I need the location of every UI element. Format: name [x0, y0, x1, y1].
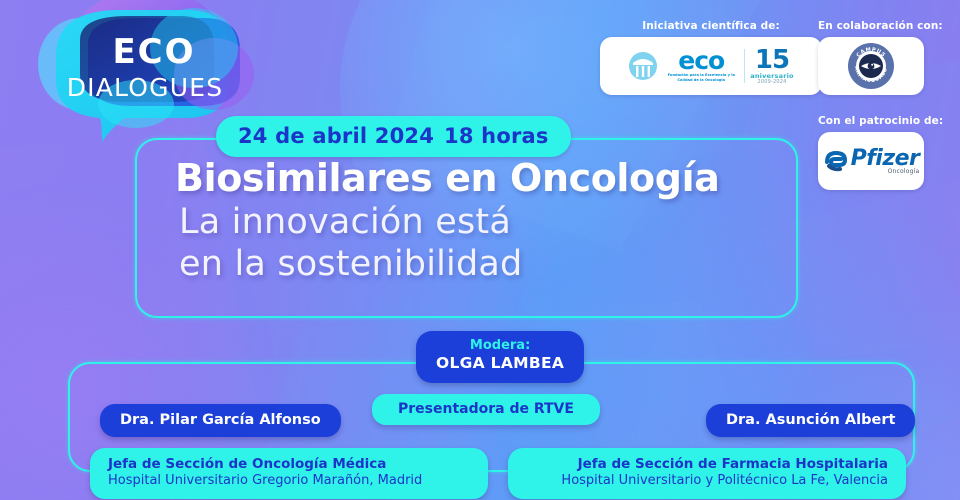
eco-tagline: Fundación para la Excelencia y la Calida… — [663, 73, 739, 82]
speaker-org-right: Hospital Universitario y Politécnico La … — [526, 473, 888, 490]
sponsor-scientific-label: Iniciativa científica de: — [600, 20, 822, 32]
speaker-role-right: Jefa de Sección de Farmacia Hospitalaria — [526, 456, 888, 473]
svg-text:CAMPUS: CAMPUS — [856, 47, 887, 59]
campus-farmacosalud-icon: CAMPUS FARMACOSALUD — [848, 43, 894, 89]
anniversary-years: 2009-2024 — [757, 80, 786, 85]
sponsor-collaboration-card: CAMPUS FARMACOSALUD — [818, 37, 924, 95]
anniversary-number: 15 — [755, 47, 789, 73]
eco-wordmark: eco — [663, 50, 739, 71]
sponsor-collaboration-label: En colaboración con: — [818, 20, 943, 32]
sponsor-scientific-card: eco Fundación para la Excelencia y la Ca… — [600, 37, 822, 95]
event-title-line3: en la sostenibilidad — [175, 243, 815, 285]
pfizer-icon — [823, 148, 849, 174]
speaker-name-right: Dra. Asunción Albert — [706, 404, 915, 437]
event-date-badge: 24 de abril 202418 horas — [216, 116, 571, 157]
moderator-name: OLGA LAMBEA — [436, 354, 564, 373]
speaker-info-right: Jefa de Sección de Farmacia Hospitalaria… — [508, 448, 906, 499]
campus-ring-text: CAMPUS FARMACOSALUD — [848, 43, 894, 89]
moderator-label: Modera: — [436, 338, 564, 354]
eco-foundation-icon — [628, 51, 658, 81]
sponsor-collaboration: En colaboración con: CAM — [818, 20, 943, 95]
divider — [744, 49, 745, 83]
poster-canvas: ECO DIALOGUES Iniciativa científica de: … — [0, 0, 960, 500]
speaker-role-left: Jefa de Sección de Oncología Médica — [108, 456, 470, 473]
event-title-line2: La innovación está — [175, 201, 815, 243]
speaker-info-left: Jefa de Sección de Oncología Médica Hosp… — [90, 448, 488, 499]
event-title-block: Biosimilares en Oncología La innovación … — [175, 158, 815, 285]
event-date: 24 de abril 2024 — [238, 124, 434, 148]
sponsor-patronage-card: Pfizer Oncología — [818, 132, 924, 190]
sponsor-scientific: Iniciativa científica de: eco Fundación … — [600, 20, 822, 95]
sponsor-patronage-label: Con el patrocinio de: — [818, 115, 943, 127]
moderator-role-badge: Presentadora de RTVE — [372, 394, 600, 425]
event-time: 18 horas — [444, 124, 549, 148]
speaker-name-left: Dra. Pilar García Alfonso — [100, 404, 341, 437]
speaker-org-left: Hospital Universitario Gregorio Marañón,… — [108, 473, 470, 490]
campus-top-text: CAMPUS — [856, 47, 887, 59]
event-title-line1: Biosimilares en Oncología — [175, 158, 815, 199]
moderator-badge: Modera: OLGA LAMBEA — [416, 331, 584, 383]
sponsor-patronage: Con el patrocinio de: Pfizer Oncología — [818, 115, 943, 190]
pfizer-wordmark: Pfizer — [851, 148, 920, 170]
